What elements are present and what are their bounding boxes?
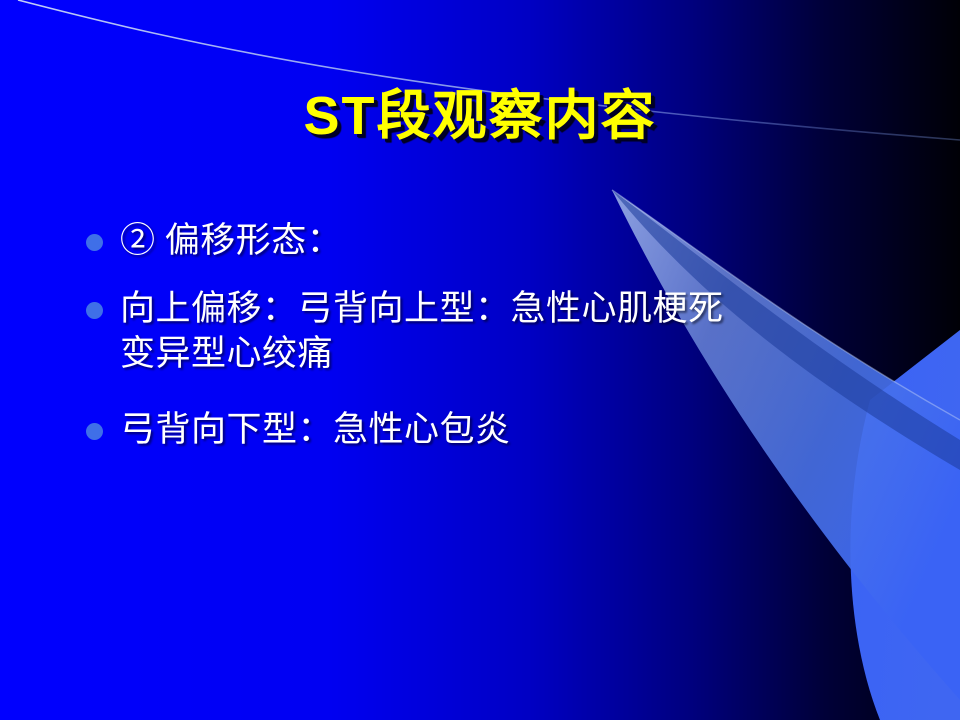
page-title: ST段观察内容 (303, 88, 656, 145)
list-item-label: 弓背向下型：急性心包炎 (120, 407, 938, 453)
list-item-label: ② 偏移形态： (120, 218, 938, 264)
list-item-label: 向上偏移：弓背向上型：急性心肌梗死 (120, 286, 938, 332)
bullet-dot-icon (86, 423, 103, 440)
presentation-slide: ST段观察内容 ② 偏移形态： 向上偏移：弓背向上型：急性心肌梗死 变异型心绞痛… (0, 0, 960, 720)
title-area: ST段观察内容 (0, 88, 960, 145)
list-item[interactable]: ② 偏移形态： (78, 218, 938, 264)
list-item[interactable]: 弓背向下型：急性心包炎 (78, 407, 938, 453)
bullet-list: ② 偏移形态： 向上偏移：弓背向上型：急性心肌梗死 变异型心绞痛 弓背向下型：急… (78, 218, 938, 480)
list-item-continuation-label: 变异型心绞痛 (120, 331, 938, 377)
bullet-dot-icon (86, 302, 103, 319)
list-item[interactable]: 向上偏移：弓背向上型：急性心肌梗死 变异型心绞痛 (78, 286, 938, 377)
slide-content: ST段观察内容 ② 偏移形态： 向上偏移：弓背向上型：急性心肌梗死 变异型心绞痛… (0, 0, 960, 720)
bullet-dot-icon (86, 234, 103, 251)
